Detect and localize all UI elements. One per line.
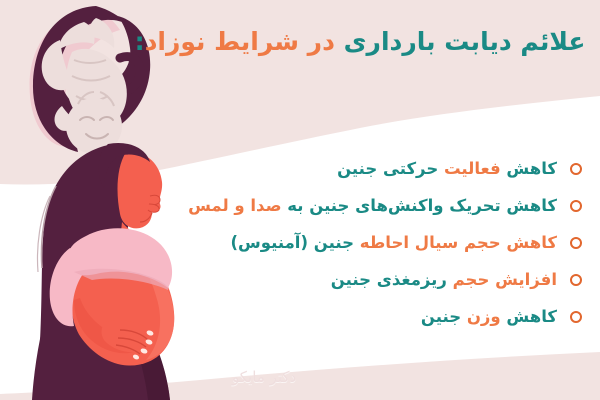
bullet-circle-icon	[570, 200, 582, 212]
list-item: کاهش وزن جنین	[10, 298, 590, 335]
list-item-text: افزایش حجم ریزمغذی جنین	[331, 270, 557, 289]
list-item-text: کاهش تحریک واکنش‌های جنین به صدا و لمس	[188, 196, 557, 215]
list-item-text: کاهش فعالیت حرکتی جنین	[337, 159, 557, 178]
text-segment: کاهش	[501, 159, 557, 178]
list-item: کاهش تحریک واکنش‌های جنین به صدا و لمس	[10, 187, 590, 224]
bullet-circle-icon	[570, 163, 582, 175]
title-segment-teal: علائم دیابت بارداری	[344, 27, 586, 56]
bullet-circle-icon	[570, 237, 582, 249]
text-segment: کاهش	[501, 307, 557, 326]
list-item: کاهش فعالیت حرکتی جنین	[10, 150, 590, 187]
list-item-text: کاهش حجم سیال احاطه جنین (آمنیوس)	[230, 233, 557, 252]
list-item-text: کاهش وزن جنین	[421, 307, 557, 326]
title-segment-colon: :	[135, 27, 145, 56]
text-segment: حرکتی جنین	[337, 159, 438, 178]
symptoms-list: کاهش فعالیت حرکتی جنین کاهش تحریک واکنش‌…	[10, 150, 590, 335]
list-item: کاهش حجم سیال احاطه جنین (آمنیوس)	[10, 224, 590, 261]
bullet-circle-icon	[570, 274, 582, 286]
text-segment: وزن	[461, 307, 501, 326]
text-segment: فعالیت	[438, 159, 500, 178]
title-block: علائم دیابت بارداری در شرایط نوزاد:	[134, 26, 586, 57]
text-segment: صدا و لمس	[188, 196, 281, 215]
brand-watermark: دکتر مایکو	[232, 368, 296, 386]
page-title: علائم دیابت بارداری در شرایط نوزاد:	[134, 26, 586, 57]
text-segment: جنین	[421, 307, 461, 326]
list-item: افزایش حجم ریزمغذی جنین	[10, 261, 590, 298]
text-segment: افزایش حجم	[447, 270, 557, 289]
text-segment: جنین (آمنیوس)	[230, 233, 354, 252]
title-segment-orange: در شرایط نوزاد	[145, 27, 335, 56]
infographic-canvas: علائم دیابت بارداری در شرایط نوزاد: کاهش…	[0, 0, 600, 400]
bullet-circle-icon	[570, 311, 582, 323]
text-segment: ریزمغذی جنین	[331, 270, 447, 289]
text-segment: کاهش حجم سیال احاطه	[354, 233, 557, 252]
text-segment: کاهش تحریک واکنش‌های جنین به	[282, 196, 557, 215]
